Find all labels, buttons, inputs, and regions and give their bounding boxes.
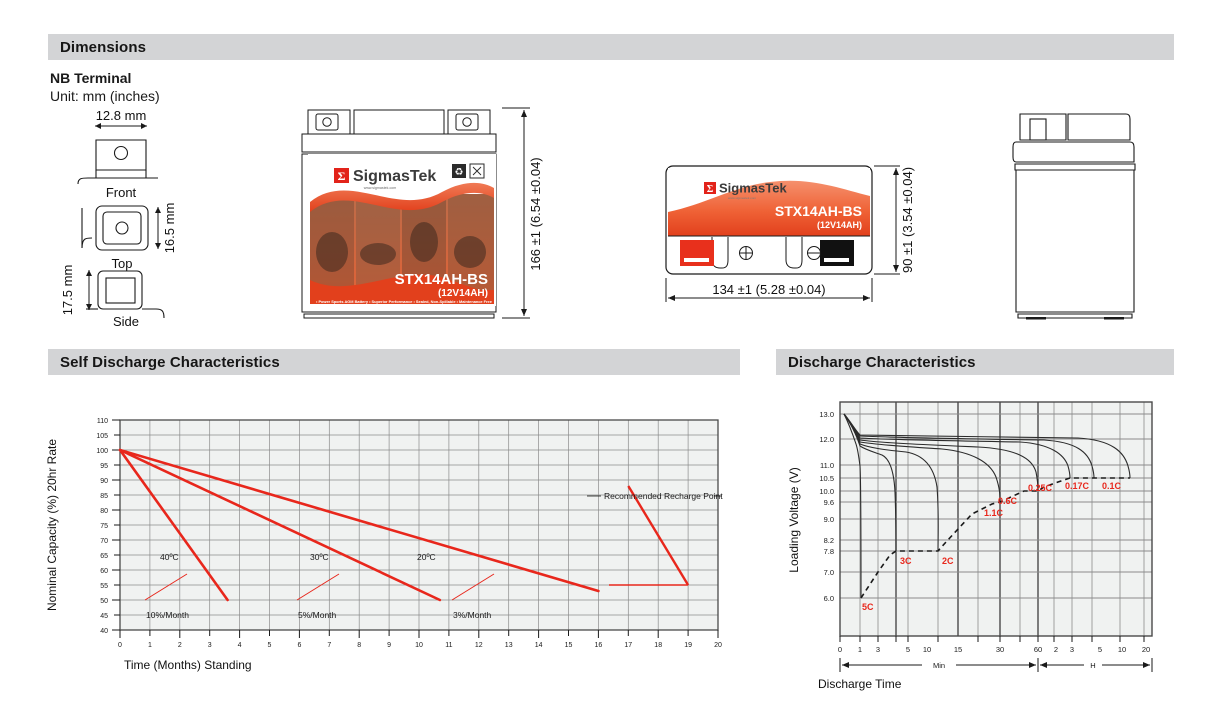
top-width-dimension: 134 ±1 (5.28 ±0.04) — [712, 282, 825, 297]
section-header-discharge: Discharge Characteristics — [776, 349, 1174, 375]
section-title-dimensions: Dimensions — [48, 39, 146, 56]
terminal-type-label: NB Terminal — [50, 70, 131, 86]
battery-side-view — [978, 102, 1148, 327]
svg-text:18: 18 — [654, 642, 662, 649]
curve-label-0.25c: 0.25C — [1028, 483, 1053, 493]
svg-text:55: 55 — [100, 583, 108, 590]
recycle-icon: ♻ — [452, 164, 466, 178]
brand-name-top: SigmasTek — [719, 181, 787, 196]
svg-text:11: 11 — [445, 642, 452, 649]
x-tick-3: 3 — [876, 645, 880, 654]
battery-front-view: Σ SigmasTek www.sigmastek.com STX14AH-BS… — [292, 102, 542, 327]
front-height-dimension: 166 ±1 (6.54 ±0.04) — [528, 157, 543, 270]
discharge-y-axis-title: Loading Voltage (V) — [787, 467, 801, 572]
svg-text:11.0: 11.0 — [820, 461, 834, 470]
section-header-dimensions: Dimensions — [48, 34, 1174, 60]
svg-text:7.8: 7.8 — [824, 547, 834, 556]
brand-name-front: SigmasTek — [353, 168, 436, 185]
curve-label-0.6c: 0.6C — [998, 496, 1018, 506]
svg-text:6: 6 — [297, 642, 301, 649]
self-discharge-chart: 110105100 959085 807570 656055 504540 01… — [42, 404, 732, 674]
battery-capacity-top: (12V14AH) — [817, 220, 862, 230]
annotation-rate-3: 3%/Month — [453, 610, 492, 620]
polarity-positive-icon — [740, 247, 753, 260]
svg-text:♻: ♻ — [455, 167, 464, 178]
unit-note-label: Unit: mm (inches) — [50, 88, 160, 104]
x-tick-60: 60 — [1034, 645, 1042, 654]
brand-website-top: www.sigmastek.com — [728, 196, 756, 200]
x-tick-10: 10 — [923, 645, 931, 654]
svg-text:13: 13 — [505, 642, 513, 649]
svg-text:95: 95 — [100, 463, 108, 470]
discharge-x-axis-title: Discharge Time — [818, 677, 902, 691]
svg-text:50: 50 — [100, 598, 108, 605]
svg-text:17: 17 — [624, 642, 632, 649]
svg-text:16: 16 — [595, 642, 603, 649]
svg-text:85: 85 — [100, 493, 108, 500]
svg-text:4: 4 — [238, 642, 242, 649]
svg-text:40: 40 — [100, 628, 108, 635]
annotation-40c: 40ºC — [160, 552, 179, 562]
svg-text:10: 10 — [415, 642, 423, 649]
terminal-view-label-top: Top — [112, 256, 133, 271]
terminal-view-label-front: Front — [106, 185, 137, 200]
svg-text:9.0: 9.0 — [824, 515, 834, 524]
positive-terminal-pad — [680, 240, 714, 266]
svg-text:60: 60 — [100, 568, 108, 575]
svg-text:20: 20 — [714, 642, 722, 649]
top-height-dimension: 90 ±1 (3.54 ±0.04) — [900, 167, 915, 273]
terminal-views-diagram: 12.8 mm Front 16.5 mm Top 17.5 mm Side — [46, 108, 231, 328]
svg-text:10.5: 10.5 — [819, 474, 834, 483]
battery-capacity-front: (12V14AH) — [438, 288, 488, 299]
x-tick-15: 15 — [954, 645, 962, 654]
curve-label-0.17c: 0.17C — [1065, 481, 1090, 491]
x-tick-0: 0 — [838, 645, 842, 654]
brand-website-front: www.sigmastek.com — [364, 186, 397, 190]
battery-model-front: STX14AH-BS — [395, 271, 488, 288]
svg-text:6.0: 6.0 — [824, 594, 834, 603]
svg-text:9: 9 — [387, 642, 391, 649]
svg-text:70: 70 — [100, 538, 108, 545]
battery-top-view: Σ SigmasTek www.sigmastek.com STX14AH-BS… — [660, 160, 940, 320]
svg-text:12: 12 — [475, 642, 483, 649]
svg-text:15: 15 — [565, 642, 573, 649]
svg-text:8.2: 8.2 — [824, 536, 834, 545]
svg-text:110: 110 — [97, 418, 108, 425]
svg-text:65: 65 — [100, 553, 108, 560]
curve-label-2c: 2C — [942, 556, 954, 566]
self-discharge-x-axis-title: Time (Months) Standing — [124, 658, 252, 672]
x-axis-group-hour: H — [1090, 661, 1095, 670]
curve-label-1.1c: 1.1C — [984, 508, 1004, 518]
x-tick-1: 1 — [858, 645, 862, 654]
discharge-chart: 13.012.011.0 10.510.09.6 9.08.27.8 7.06.… — [782, 392, 1174, 692]
svg-text:Σ: Σ — [707, 184, 714, 195]
annotation-30c: 30ºC — [310, 552, 329, 562]
svg-text:19: 19 — [684, 642, 692, 649]
svg-text:14: 14 — [535, 642, 543, 649]
svg-text:5: 5 — [268, 642, 272, 649]
curve-label-5c: 5C — [862, 602, 874, 612]
section-header-self-discharge: Self Discharge Characteristics — [48, 349, 740, 375]
svg-text:7.0: 7.0 — [824, 568, 834, 577]
x-tick-30: 30 — [996, 645, 1004, 654]
x-tick-h2: 2 — [1054, 645, 1058, 654]
annotation-20c: 20ºC — [417, 552, 436, 562]
terminal-dim-165: 16.5 mm — [162, 203, 177, 254]
svg-text:1: 1 — [148, 642, 152, 649]
x-tick-5: 5 — [906, 645, 910, 654]
svg-text:Σ: Σ — [338, 169, 346, 183]
terminal-dim-175: 17.5 mm — [60, 265, 75, 316]
svg-text:8: 8 — [357, 642, 361, 649]
svg-text:80: 80 — [100, 508, 108, 515]
battery-model-top: STX14AH-BS — [775, 203, 862, 219]
svg-text:3: 3 — [208, 642, 212, 649]
svg-text:45: 45 — [100, 613, 108, 620]
section-title-self-discharge: Self Discharge Characteristics — [48, 354, 280, 371]
x-tick-h10: 10 — [1118, 645, 1126, 654]
svg-text:0: 0 — [118, 642, 122, 649]
svg-text:12.0: 12.0 — [819, 435, 834, 444]
svg-text:75: 75 — [100, 523, 108, 530]
x-tick-h3: 3 — [1070, 645, 1074, 654]
svg-text:105: 105 — [96, 433, 108, 440]
annotation-rate-10: 10%/Month — [146, 610, 189, 620]
svg-text:2: 2 — [178, 642, 182, 649]
self-discharge-y-axis-title: Nominal Capacity (%) 20hr Rate — [45, 439, 59, 611]
svg-text:100: 100 — [96, 448, 108, 455]
terminal-dim-128: 12.8 mm — [96, 108, 147, 123]
svg-text:90: 90 — [100, 478, 108, 485]
battery-features-front: • Power Sports AGM Battery • Superior Pe… — [316, 299, 493, 304]
svg-text:9.6: 9.6 — [824, 498, 834, 507]
negative-terminal-pad — [820, 240, 854, 266]
svg-text:7: 7 — [327, 642, 331, 649]
x-tick-h20: 20 — [1142, 645, 1150, 654]
curve-label-0.1c: 0.1C — [1102, 481, 1122, 491]
x-axis-group-min: Min — [933, 661, 945, 670]
annotation-recharge-point: Recommended Recharge Point — [604, 491, 723, 501]
terminal-view-label-side: Side — [113, 314, 139, 329]
curve-label-3c: 3C — [900, 556, 912, 566]
annotation-rate-5: 5%/Month — [298, 610, 337, 620]
section-title-discharge: Discharge Characteristics — [776, 354, 976, 371]
svg-text:10.0: 10.0 — [819, 487, 834, 496]
x-tick-h5: 5 — [1098, 645, 1102, 654]
svg-text:13.0: 13.0 — [819, 410, 834, 419]
